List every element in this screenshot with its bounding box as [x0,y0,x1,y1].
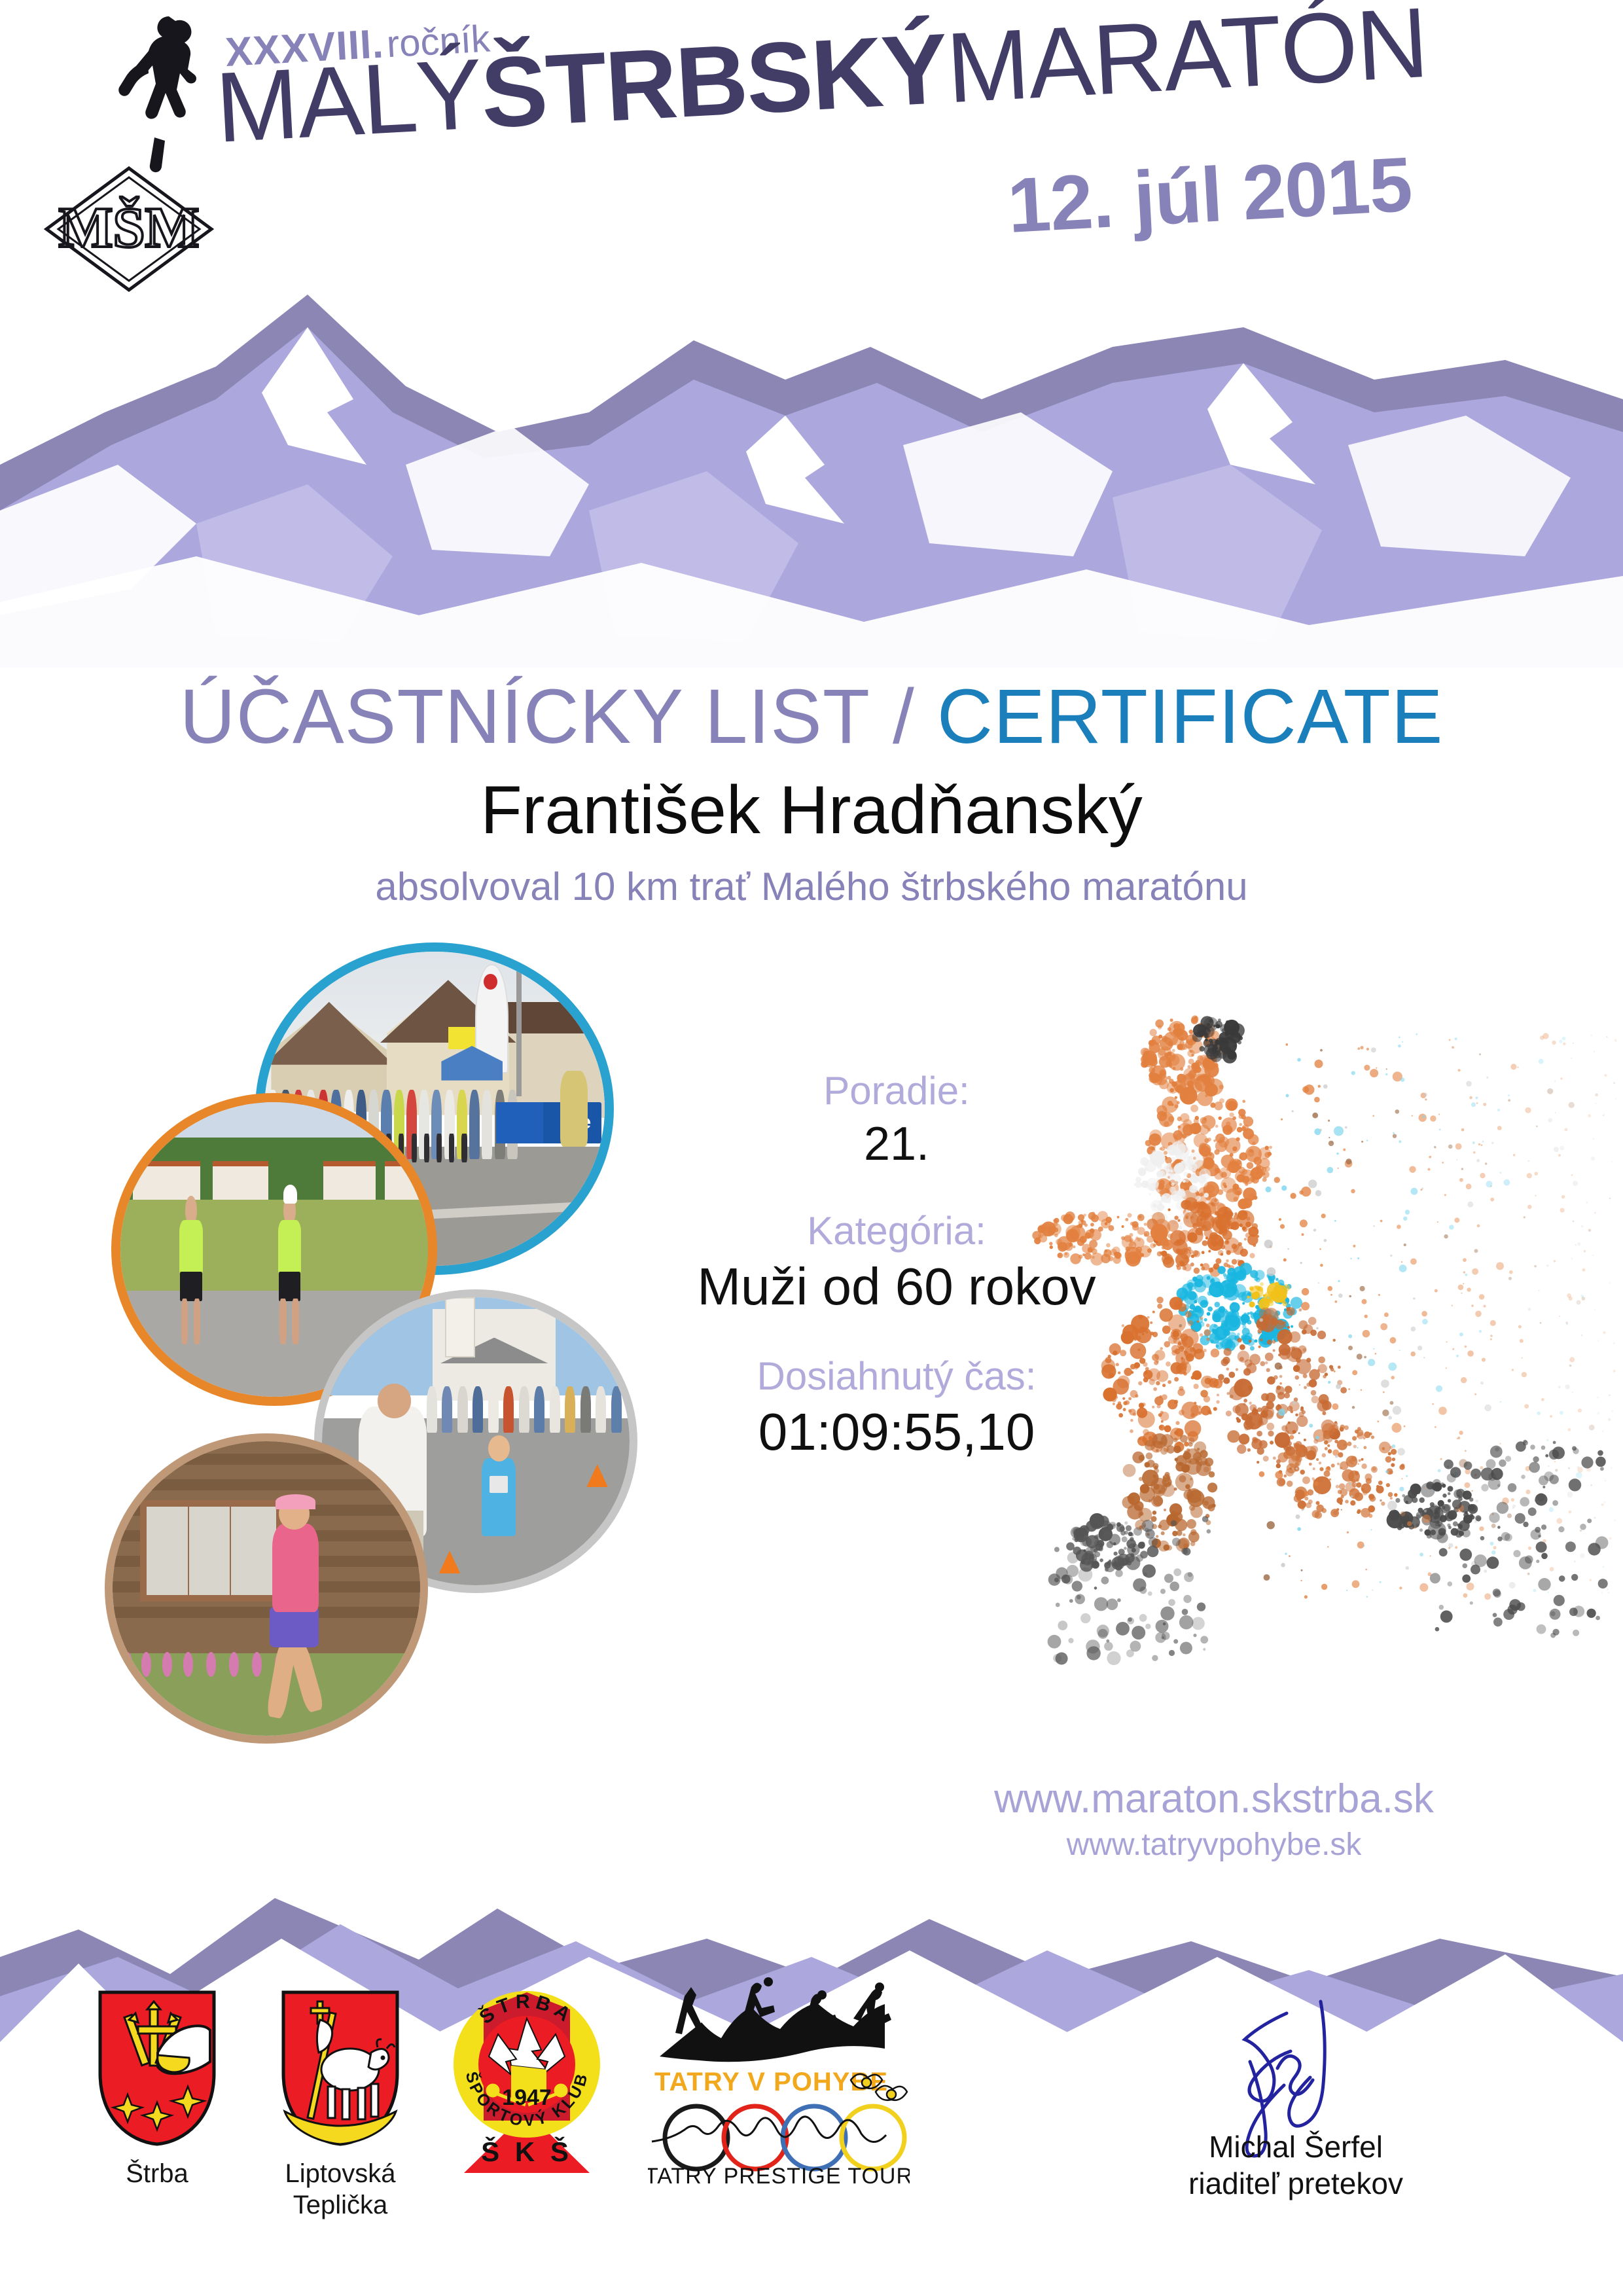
event-date: 12. júl 2015 [1005,125,1623,252]
signature-role: riaditeľ pretekov [1113,2165,1479,2202]
liptovska-teplicka-coat-of-arms-icon [278,1990,402,2147]
photo-collage: Cie [85,929,654,1806]
particle-runner-graphic [975,956,1616,1702]
header-mountain-band [0,249,1623,668]
certificate-title-en: CERTIFICATE [937,673,1444,760]
sponsor-sks-club: ŠTRBA ŠPORTOVÝ KLUB 1947 Š K Š [445,1983,609,2176]
certificate-page: MŠM XXXVIII. ročník MALÝŠTRBSKÝMARATÓN 1… [0,0,1623,2296]
certificate-title: ÚČASTNÍCKY LIST/CERTIFICATE [0,674,1623,759]
sks-club-logo-icon: ŠTRBA ŠPORTOVÝ KLUB 1947 Š K Š [448,1983,605,2173]
sponsor-liptovska-teplicka: Liptovská Teplička [255,1990,425,2221]
sponsor-tatry-v-pohybe: TATRY V POHYBE TATRY PRESTIGE TOUR [641,1977,916,2196]
sponsor-liptovska-teplicka-caption: Liptovská Teplička [255,2158,425,2221]
website-links: www.maraton.skstrba.sk www.tatryvpohybe.… [838,1774,1590,1865]
certificate-title-separator: / [870,673,937,760]
event-title-part3: MARATÓN [944,0,1430,124]
tatry-v-pohybe-wordmark: TATRY V POHYBE [654,2068,888,2096]
event-title-part2: ŠTRBSKÝ [478,13,950,149]
tatry-v-pohybe-logo-icon: TATRY V POHYBE TATRY PRESTIGE TOUR [648,1977,910,2193]
msm-diamond-logo: MŠM [43,160,216,298]
signature-name: Michal Šerfel [1113,2128,1479,2165]
sponsor-strba: Štrba [79,1990,236,2189]
tatry-prestige-tour-wordmark: TATRY PRESTIGE TOUR [648,2164,910,2189]
certificate-title-sk: ÚČASTNÍCKY LIST [180,673,870,760]
strba-coat-of-arms-icon [95,1990,219,2147]
athlete-name: František Hradňanský [0,772,1623,848]
photo-woman-runner [105,1433,428,1744]
sponsor-row: Štrba Liptovská T [0,1983,1623,2284]
signature-block: Michal Šerfel riaditeľ pretekov [1113,1983,1479,2056]
url-primary[interactable]: www.maraton.skstrba.sk [838,1774,1590,1825]
svg-text:1947: 1947 [502,2085,552,2110]
event-title-part1: MALÝ [213,38,484,164]
url-secondary[interactable]: www.tatryvpohybe.sk [838,1825,1590,1865]
sponsor-strba-caption: Štrba [79,2158,236,2189]
header: MŠM XXXVIII. ročník MALÝŠTRBSKÝMARATÓN 1… [0,0,1623,661]
svg-text:Š K Š: Š K Š [481,2136,573,2167]
certificate-description: absolvoval 10 km trať Malého štrbského m… [0,864,1623,910]
svg-text:MŠM: MŠM [58,196,199,260]
